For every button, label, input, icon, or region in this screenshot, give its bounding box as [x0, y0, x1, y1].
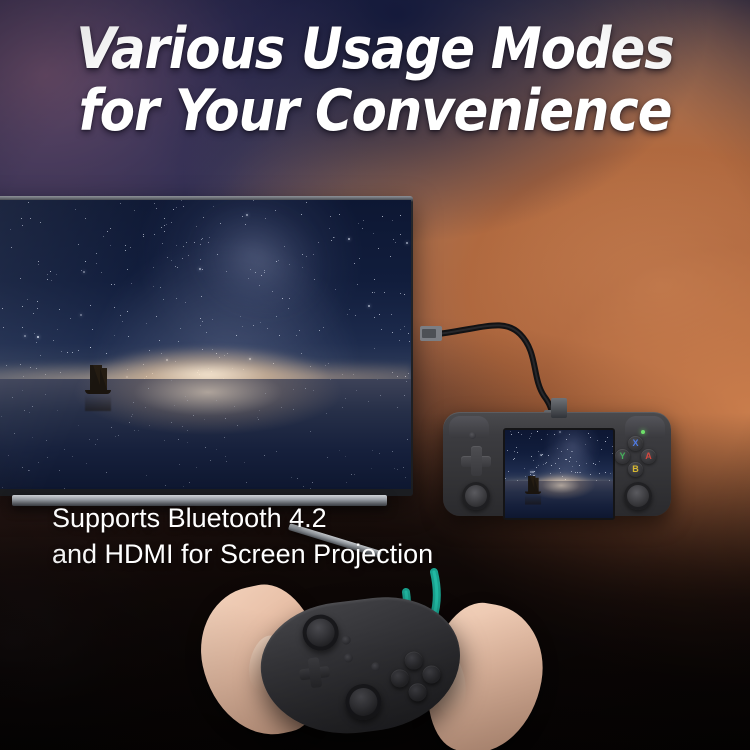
handheld-game-console[interactable]: X Y A B	[443, 404, 671, 516]
console-body: X Y A B	[443, 412, 671, 516]
console-sailboat	[520, 476, 545, 505]
tv-glass-reflection	[0, 200, 411, 489]
hdmi-connector-tv-inner	[422, 329, 436, 338]
dpad-vertical	[471, 446, 482, 476]
gamepad-button-b[interactable]	[408, 682, 428, 702]
gamepad-minus-button[interactable]	[371, 662, 381, 672]
gamepad-button-y[interactable]	[390, 668, 410, 688]
button-b[interactable]: B	[628, 462, 643, 477]
television	[0, 196, 413, 496]
gamepad-analog-stick-left[interactable]	[301, 613, 341, 653]
console-face-buttons[interactable]: X Y A B	[615, 436, 657, 478]
wireless-gamepad-in-hands[interactable]	[205, 578, 535, 750]
console-boat-hull	[525, 491, 541, 493]
button-a[interactable]: A	[641, 449, 656, 464]
console-dpad[interactable]	[461, 446, 491, 476]
gamepad-analog-stick-right[interactable]	[343, 682, 383, 722]
gamepad-button-a[interactable]	[422, 664, 442, 684]
gamepad-button-x[interactable]	[404, 651, 424, 671]
console-select-button[interactable]	[469, 432, 476, 439]
console-screen	[503, 428, 615, 520]
console-boat-reflection	[525, 494, 541, 504]
button-x[interactable]: X	[628, 436, 643, 451]
power-led-indicator	[641, 430, 645, 434]
console-sail-jib	[534, 478, 538, 492]
gamepad-home-button[interactable]	[343, 653, 353, 663]
gamepad-dpad-vertical	[308, 657, 323, 688]
console-analog-stick-right[interactable]	[624, 482, 652, 510]
gamepad-capture-button[interactable]	[341, 635, 351, 645]
tv-stand-base	[12, 495, 388, 506]
gamepad-face-buttons[interactable]	[388, 649, 444, 705]
gamepad-dpad[interactable]	[298, 656, 331, 689]
console-hdmi-port	[551, 398, 567, 418]
product-feature-banner: Various Usage Modes for Your Convenience	[0, 0, 750, 750]
button-y[interactable]: Y	[615, 449, 630, 464]
console-analog-stick-left[interactable]	[462, 482, 490, 510]
shoulder-button-right[interactable]	[625, 416, 665, 438]
tv-screen	[0, 200, 411, 489]
